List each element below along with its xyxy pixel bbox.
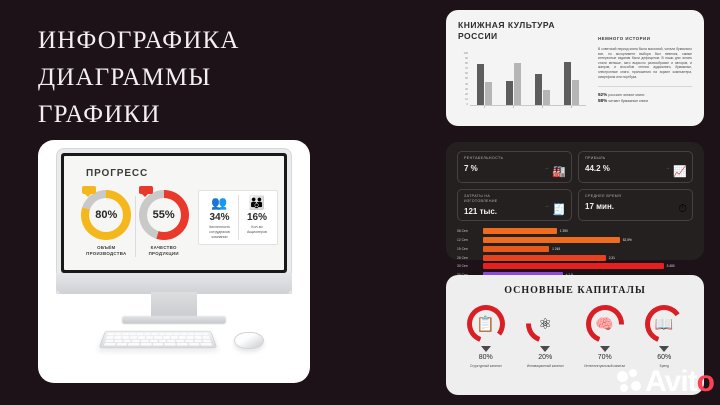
book-chart-y-axis: 1009080706050403020100 — [458, 52, 468, 106]
keyboard-key — [202, 336, 210, 339]
kpi-tile-average-time: СРЕДНЕЕ ВРЕМЯ 17 мин. ⏱ — [578, 189, 693, 221]
book-chart-x-tick: 2 — [513, 106, 514, 114]
keyboard-key — [167, 339, 175, 342]
keyboard-row — [105, 339, 211, 342]
donut-metric-production: 80% 80% ОБЪЁМ ПРОИЗВОДСТВА — [78, 190, 135, 257]
keyboard-key — [130, 336, 137, 339]
kpi-bar-track: 2,31 — [483, 255, 693, 261]
donut-label-80-line2: ПРОИЗВОДСТВА — [78, 251, 135, 257]
book-chart-x-tick: 4 — [571, 106, 572, 114]
card-kpi-dashboard: РЕНТАБЕЛЬНОСТЬ 7 % → 🏭 ПРИБЫЛЬ 44.2 % → … — [446, 142, 704, 260]
keyboard — [99, 331, 218, 348]
avito-watermark: Avito — [617, 367, 714, 397]
keyboard-key — [165, 343, 176, 346]
growth-chart-icon: 📈 — [673, 165, 687, 178]
book-chart-bar-group — [564, 62, 580, 105]
donut-chart-55: 55% — [139, 190, 189, 240]
book-chart-bar — [514, 63, 521, 105]
open-book-icon: 📖 — [650, 310, 678, 338]
card-book-stat-2-text: читают бумажные книги — [608, 99, 648, 103]
book-chart-bar — [535, 74, 542, 105]
keyboard-key — [144, 333, 150, 335]
capital-label: Структурный капитал — [458, 364, 514, 368]
book-chart-bar-group — [506, 63, 522, 105]
avito-wordmark-o: o — [697, 365, 714, 398]
keyboard-key — [150, 339, 158, 342]
keyboard-key — [178, 336, 185, 339]
keyboard-key — [140, 343, 151, 346]
capital-percent: 80% — [458, 354, 514, 361]
document-structure-icon: 📋 — [472, 310, 500, 338]
kpi-tile-profit-value: 44.2 % — [585, 164, 686, 173]
keyboard-key — [132, 339, 140, 342]
keyboard-key — [116, 343, 128, 346]
keyboard-key — [152, 343, 163, 346]
keyboard-key — [138, 336, 145, 339]
book-chart-y-tick: 80 — [465, 62, 468, 65]
monitor-stand-neck — [151, 292, 197, 318]
capital-ring: 📖 — [645, 305, 683, 343]
caret-down-icon — [481, 346, 491, 352]
card-book-stat-2: 58% читают бумажные книги — [598, 98, 692, 104]
keyboard-key — [173, 333, 180, 335]
keyboard-key — [141, 339, 149, 342]
kpi-horizontal-bar-chart: 06 Сен1 39012 Сен62,5%19 Сен1 24526 Сен2… — [457, 228, 693, 279]
keyboard-key — [114, 336, 122, 339]
book-chart-bar — [485, 82, 492, 105]
keyboard-key — [170, 336, 177, 339]
keyboard-key — [194, 336, 202, 339]
donut-tag-80: 80% — [82, 186, 96, 194]
kpi-bar-value: 2,31 — [606, 256, 615, 260]
book-chart-y-tick: 10 — [465, 98, 468, 101]
title-line-2: ДИАГРАММЫ — [38, 59, 240, 96]
keyboard-key — [186, 336, 194, 339]
book-chart-bar-group — [477, 64, 493, 105]
slide-title: ПРОГРЕСС — [86, 168, 148, 179]
kpi-tile-production-cost: ЗАТРАТЫ НА ИЗГОТОВЛЕНИЕ 121 тыс. → 🧾 — [457, 189, 572, 221]
slide-metrics-row: 80% 80% ОБЪЁМ ПРОИЗВОДСТВА 55% — [78, 190, 278, 257]
kpi-tile-production-cost-label-2: ИЗГОТОВЛЕНИЕ — [464, 199, 565, 204]
avito-logo-icon — [617, 369, 643, 395]
keyboard-key — [123, 339, 131, 342]
keyboard-key — [187, 333, 194, 335]
kpi-bar-row: 12 Сен62,5% — [457, 237, 693, 244]
caret-down-icon — [600, 346, 610, 352]
kpi-tile-profitability-label: РЕНТАБЕЛЬНОСТЬ — [464, 156, 565, 161]
card-capitals-row: 📋80%Структурный капитал⚛20%Инновационный… — [456, 305, 694, 368]
kpi-bar-value: 1 390 — [557, 229, 568, 233]
capital-percent: 70% — [577, 354, 633, 361]
title-line-1: ИНФОГРАФИКА — [38, 22, 240, 59]
keyboard-key — [188, 343, 200, 346]
donut-value-55: 55% — [147, 198, 181, 232]
book-chart-y-tick: 20 — [465, 93, 468, 96]
keyboard-key — [180, 333, 187, 335]
book-bar-chart: 1009080706050403020100 1234 — [458, 52, 586, 114]
keyboard-key — [162, 336, 169, 339]
kpi-bar-value: 1 245 — [549, 247, 560, 251]
book-chart-y-tick: 40 — [465, 83, 468, 86]
card-book-side-heading: НЕМНОГО ИСТОРИИ — [598, 36, 692, 41]
kpi-bar-value: 3 400 — [664, 264, 675, 268]
people-stat-shareholders-value: 16% — [242, 212, 272, 223]
kpi-bar-row: 19 Сен1 245 — [457, 246, 693, 253]
mouse — [234, 332, 264, 349]
card-book-heading-line2: РОССИИ — [458, 31, 578, 42]
kpi-bar-label: 12 Сен — [457, 238, 483, 242]
kpi-tile-grid: РЕНТАБЕЛЬНОСТЬ 7 % → 🏭 ПРИБЫЛЬ 44.2 % → … — [457, 151, 693, 221]
capital-ring: 📋 — [467, 305, 505, 343]
keyboard-key — [129, 333, 136, 335]
arrow-right-icon: → — [665, 165, 670, 171]
capital-item: 📖60%Бренд — [636, 305, 692, 368]
kpi-tile-profitability-value: 7 % — [464, 164, 565, 173]
book-chart-y-tick: 50 — [465, 77, 468, 80]
kpi-bar-label: 26 Сен — [457, 256, 483, 260]
card-book-heading-line1: КНИЖНАЯ КУЛЬТУРА — [458, 20, 578, 31]
book-chart-y-tick: 0 — [467, 103, 468, 106]
keyboard-key — [122, 336, 130, 339]
kpi-bar-track: 3 400 — [483, 263, 693, 269]
keyboard-key — [154, 336, 161, 339]
keyboard-key — [166, 333, 172, 335]
caret-down-icon — [659, 346, 669, 352]
imac-monitor: ПРОГРЕСС 80% 80% ОБЪЁМ ПРОИЗВОДСТВА — [56, 148, 292, 294]
page-title: ИНФОГРАФИКА ДИАГРАММЫ ГРАФИКИ — [38, 22, 240, 133]
book-chart-bar-group — [535, 74, 551, 105]
group-of-people-icon: 👥 — [204, 195, 235, 210]
kpi-bar-track: 62,5% — [483, 237, 693, 243]
capital-ring: 🧠 — [586, 305, 624, 343]
kpi-bar-fill — [483, 228, 557, 234]
card-book-stat-1-text: россиян читают книги — [608, 93, 644, 97]
arrow-right-icon: → — [544, 165, 549, 171]
monitor-chin — [56, 273, 292, 294]
card-book-stat-1-value: 92% — [598, 92, 607, 97]
book-chart-x-ticks: 1234 — [470, 106, 586, 114]
caret-down-icon — [540, 346, 550, 352]
kpi-bar-fill — [483, 237, 620, 243]
book-chart-y-tick: 70 — [465, 67, 468, 70]
book-chart-x-tick: 3 — [542, 106, 543, 114]
factory-icon: 🏭 — [552, 165, 566, 178]
people-stat-employees: 👥 34% Численность сотрудников компании — [201, 195, 238, 240]
keyboard-key — [146, 336, 153, 339]
keyboard-key — [159, 339, 167, 342]
kpi-bar-track: 1 245 — [483, 246, 693, 252]
kpi-tile-average-time-value: 17 мин. — [585, 202, 686, 211]
kpi-bar-fill — [483, 246, 549, 252]
capital-ring: ⚛ — [526, 305, 564, 343]
kpi-bar-fill — [483, 255, 606, 261]
donut-tag-55: 55% — [139, 186, 153, 194]
monitor-stand-foot — [122, 316, 226, 324]
book-chart-y-tick: 100 — [464, 52, 468, 55]
book-chart-y-tick: 60 — [465, 72, 468, 75]
keyboard-key — [115, 333, 122, 335]
keyboard-key — [114, 339, 123, 342]
brain-head-icon: 🧠 — [591, 310, 619, 338]
book-chart-plot — [470, 52, 586, 106]
card-book-culture: КНИЖНАЯ КУЛЬТУРА РОССИИ 1009080706050403… — [446, 10, 704, 126]
capital-item: 📋80%Структурный капитал — [458, 305, 514, 368]
presentation-slide: ПРОГРЕСС 80% 80% ОБЪЁМ ПРОИЗВОДСТВА — [64, 156, 284, 270]
capital-percent: 60% — [636, 354, 692, 361]
keyboard-key — [107, 333, 114, 335]
card-book-text: НЕМНОГО ИСТОРИИ В советский период книга… — [598, 36, 692, 104]
kpi-tile-profit-label: ПРИБЫЛЬ — [585, 156, 686, 161]
monitor-panel: ПРОГРЕСС 80% 80% ОБЪЁМ ПРОИЗВОДСТВА — [38, 140, 310, 383]
keyboard-key — [185, 339, 193, 342]
keyboard-key — [200, 343, 212, 346]
innovation-atom-icon: ⚛ — [531, 310, 559, 338]
card-book-heading: КНИЖНАЯ КУЛЬТУРА РОССИИ — [458, 20, 578, 42]
title-line-3: ГРАФИКИ — [38, 96, 240, 133]
kpi-bar-track: 1 390 — [483, 228, 693, 234]
invoice-icon: 🧾 — [552, 203, 566, 216]
book-chart-bar — [477, 64, 484, 105]
people-stat-shareholders-label-2: Акционеров — [242, 230, 272, 235]
keyboard-key — [202, 333, 209, 335]
card-book-paragraph: В советский период книга была массовой, … — [598, 47, 692, 79]
kpi-tile-profit: ПРИБЫЛЬ 44.2 % → 📈 — [578, 151, 693, 183]
people-stat-shareholders: 👪 16% Кол-во Акционеров — [238, 195, 275, 240]
keyboard-key — [176, 339, 184, 342]
book-chart-y-tick: 30 — [465, 88, 468, 91]
book-chart-x-tick: 1 — [484, 106, 485, 114]
keyboard-key — [137, 333, 144, 335]
donut-label-55-line2: ПРОДУКЦИИ — [135, 251, 192, 257]
book-chart-bar — [543, 90, 550, 105]
poster-canvas: ИНФОГРАФИКА ДИАГРАММЫ ГРАФИКИ ПРОГРЕСС 8… — [0, 0, 720, 405]
kpi-bar-row: 26 Сен2,31 — [457, 254, 693, 261]
card-capitals-heading: ОСНОВНЫЕ КАПИТАЛЫ — [456, 285, 694, 296]
avito-wordmark-vit: vit — [665, 365, 697, 398]
keyboard-key — [158, 333, 164, 335]
kpi-tile-average-time-label: СРЕДНЕЕ ВРЕМЯ — [585, 194, 686, 199]
people-stat-employees-label-3: компании — [204, 235, 235, 240]
avito-wordmark: Avito — [645, 367, 714, 397]
kpi-bar-row: 30 Сен3 400 — [457, 263, 693, 270]
kpi-tile-profitability: РЕНТАБЕЛЬНОСТЬ 7 % → 🏭 — [457, 151, 572, 183]
book-chart-bar — [572, 80, 579, 105]
keyboard-key — [106, 336, 114, 339]
kpi-bar-label: 19 Сен — [457, 247, 483, 251]
capital-label: Инновационный капитал — [517, 364, 573, 368]
book-chart-bar — [564, 62, 571, 105]
avito-wordmark-a: A — [645, 365, 665, 398]
keyboard-key — [128, 343, 139, 346]
arrow-right-icon: → — [544, 203, 549, 209]
keyboard-key — [105, 339, 114, 342]
capital-item: 🧠70%Интеллектуальный капитал — [577, 305, 633, 368]
keyboard-key — [195, 333, 202, 335]
keyboard-key — [122, 333, 129, 335]
stopwatch-icon: ⏱ — [678, 203, 687, 216]
people-stat-employees-value: 34% — [204, 212, 235, 223]
keyboard-key — [194, 339, 203, 342]
keyboard-key — [104, 343, 116, 346]
people-stats-box: 👥 34% Численность сотрудников компании 👪 — [198, 190, 278, 245]
kpi-bar-value: 62,5% — [620, 238, 632, 242]
donut-value-80: 80% — [89, 198, 123, 232]
kpi-tile-production-cost-value: 121 тыс. — [464, 207, 565, 216]
kpi-bar-row: 06 Сен1 390 — [457, 228, 693, 235]
card-book-stat-2-value: 58% — [598, 98, 607, 103]
monitor-screen-frame: ПРОГРЕСС 80% 80% ОБЪЁМ ПРОИЗВОДСТВА — [61, 153, 287, 273]
capital-percent: 20% — [517, 354, 573, 361]
keyboard-row — [107, 333, 209, 335]
keyboard-row — [106, 336, 210, 339]
donut-chart-80: 80% — [81, 190, 131, 240]
card-book-divider — [598, 86, 692, 87]
keyboard-key — [176, 343, 187, 346]
donut-metric-quality: 55% 55% КАЧЕСТВО ПРОДУКЦИИ — [135, 190, 192, 257]
kpi-bar-label: 06 Сен — [457, 229, 483, 233]
kpi-bar-label: 30 Сен — [457, 264, 483, 268]
keyboard-key — [151, 333, 157, 335]
keyboard-key — [202, 339, 211, 342]
kpi-bar-fill — [483, 263, 664, 269]
keyboard-row — [104, 343, 212, 346]
capital-item: ⚛20%Инновационный капитал — [517, 305, 573, 368]
book-chart-y-tick: 90 — [465, 57, 468, 60]
book-chart-bar — [506, 81, 513, 105]
shareholders-icon: 👪 — [242, 195, 272, 210]
